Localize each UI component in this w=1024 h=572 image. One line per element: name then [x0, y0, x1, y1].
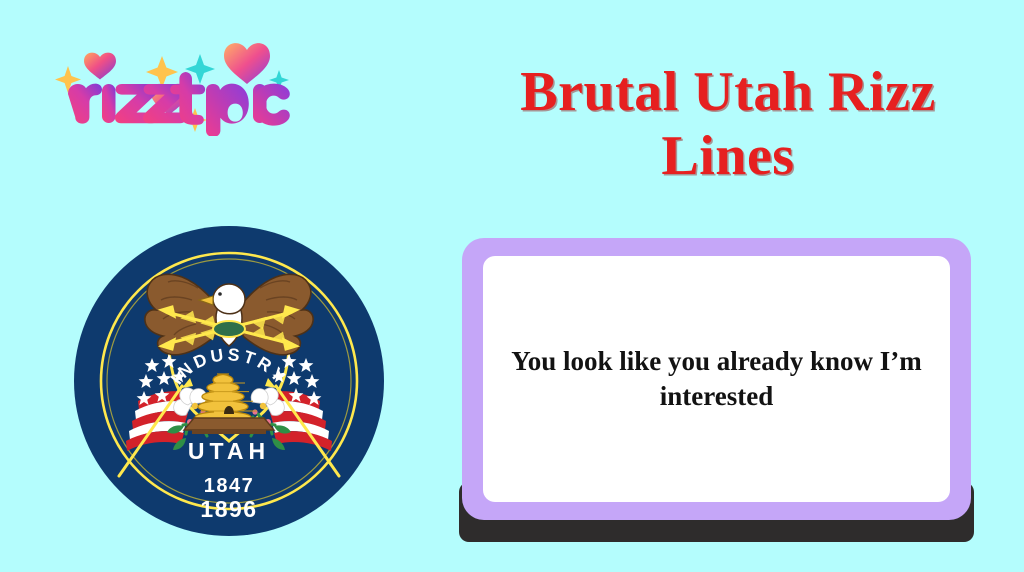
quote-text: You look like you already know I’m inter… — [495, 344, 938, 413]
heart-icon — [84, 53, 116, 80]
page-title-line-2: Lines — [448, 124, 1008, 188]
seal-year-1896: 1896 — [200, 496, 257, 522]
brand-wordmark-tail — [206, 84, 290, 136]
utah-state-seal: INDUSTRY — [74, 226, 384, 536]
device-screen: You look like you already know I’m inter… — [483, 256, 950, 502]
device-frame: You look like you already know I’m inter… — [462, 238, 971, 520]
brand-logo[interactable] — [48, 32, 308, 136]
brand-wordmark — [68, 72, 205, 125]
seal-state-name: UTAH — [188, 438, 270, 464]
quote-card: You look like you already know I’m inter… — [459, 238, 974, 542]
page-title-line-1: Brutal Utah Rizz — [448, 60, 1008, 124]
beehive-base — [184, 418, 274, 430]
sparkle-icon — [146, 56, 178, 88]
page-title: Brutal Utah Rizz Lines — [448, 60, 1008, 189]
seal-year-1847: 1847 — [204, 475, 255, 497]
poster-canvas: Brutal Utah Rizz Lines — [0, 0, 1024, 572]
heart-icon — [224, 43, 270, 84]
